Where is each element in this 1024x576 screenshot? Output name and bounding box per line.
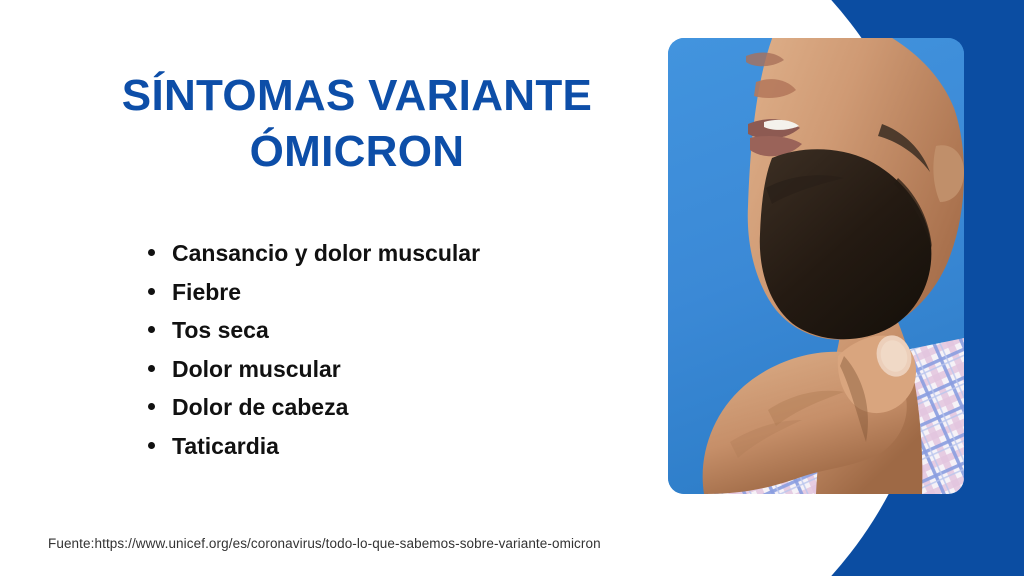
symptom-label: Fiebre	[172, 279, 241, 307]
symptom-label: Tos seca	[172, 317, 269, 345]
symptom-label: Dolor muscular	[172, 356, 341, 384]
list-item: Dolor de cabeza	[148, 394, 480, 422]
bullet-icon	[148, 326, 155, 333]
bullet-icon	[148, 249, 155, 256]
symptom-label: Dolor de cabeza	[172, 394, 348, 422]
symptom-label: Cansancio y dolor muscular	[172, 240, 480, 268]
list-item: Tos seca	[148, 317, 480, 345]
page-title: SÍNTOMAS VARIANTE ÓMICRON	[62, 68, 652, 181]
bullet-icon	[148, 403, 155, 410]
list-item: Dolor muscular	[148, 356, 480, 384]
bullet-icon	[148, 442, 155, 449]
symptom-label: Taticardia	[172, 433, 279, 461]
slide-canvas: SÍNTOMAS VARIANTE ÓMICRON Cansancio y do…	[0, 0, 1024, 576]
list-item: Taticardia	[148, 433, 480, 461]
sore-throat-photo	[668, 38, 964, 494]
list-item: Fiebre	[148, 279, 480, 307]
bullet-icon	[148, 288, 155, 295]
symptom-list: Cansancio y dolor muscular Fiebre Tos se…	[148, 240, 480, 472]
list-item: Cansancio y dolor muscular	[148, 240, 480, 268]
source-citation: Fuente:https://www.unicef.org/es/coronav…	[48, 536, 601, 551]
bullet-icon	[148, 365, 155, 372]
photo-illustration	[668, 38, 964, 494]
